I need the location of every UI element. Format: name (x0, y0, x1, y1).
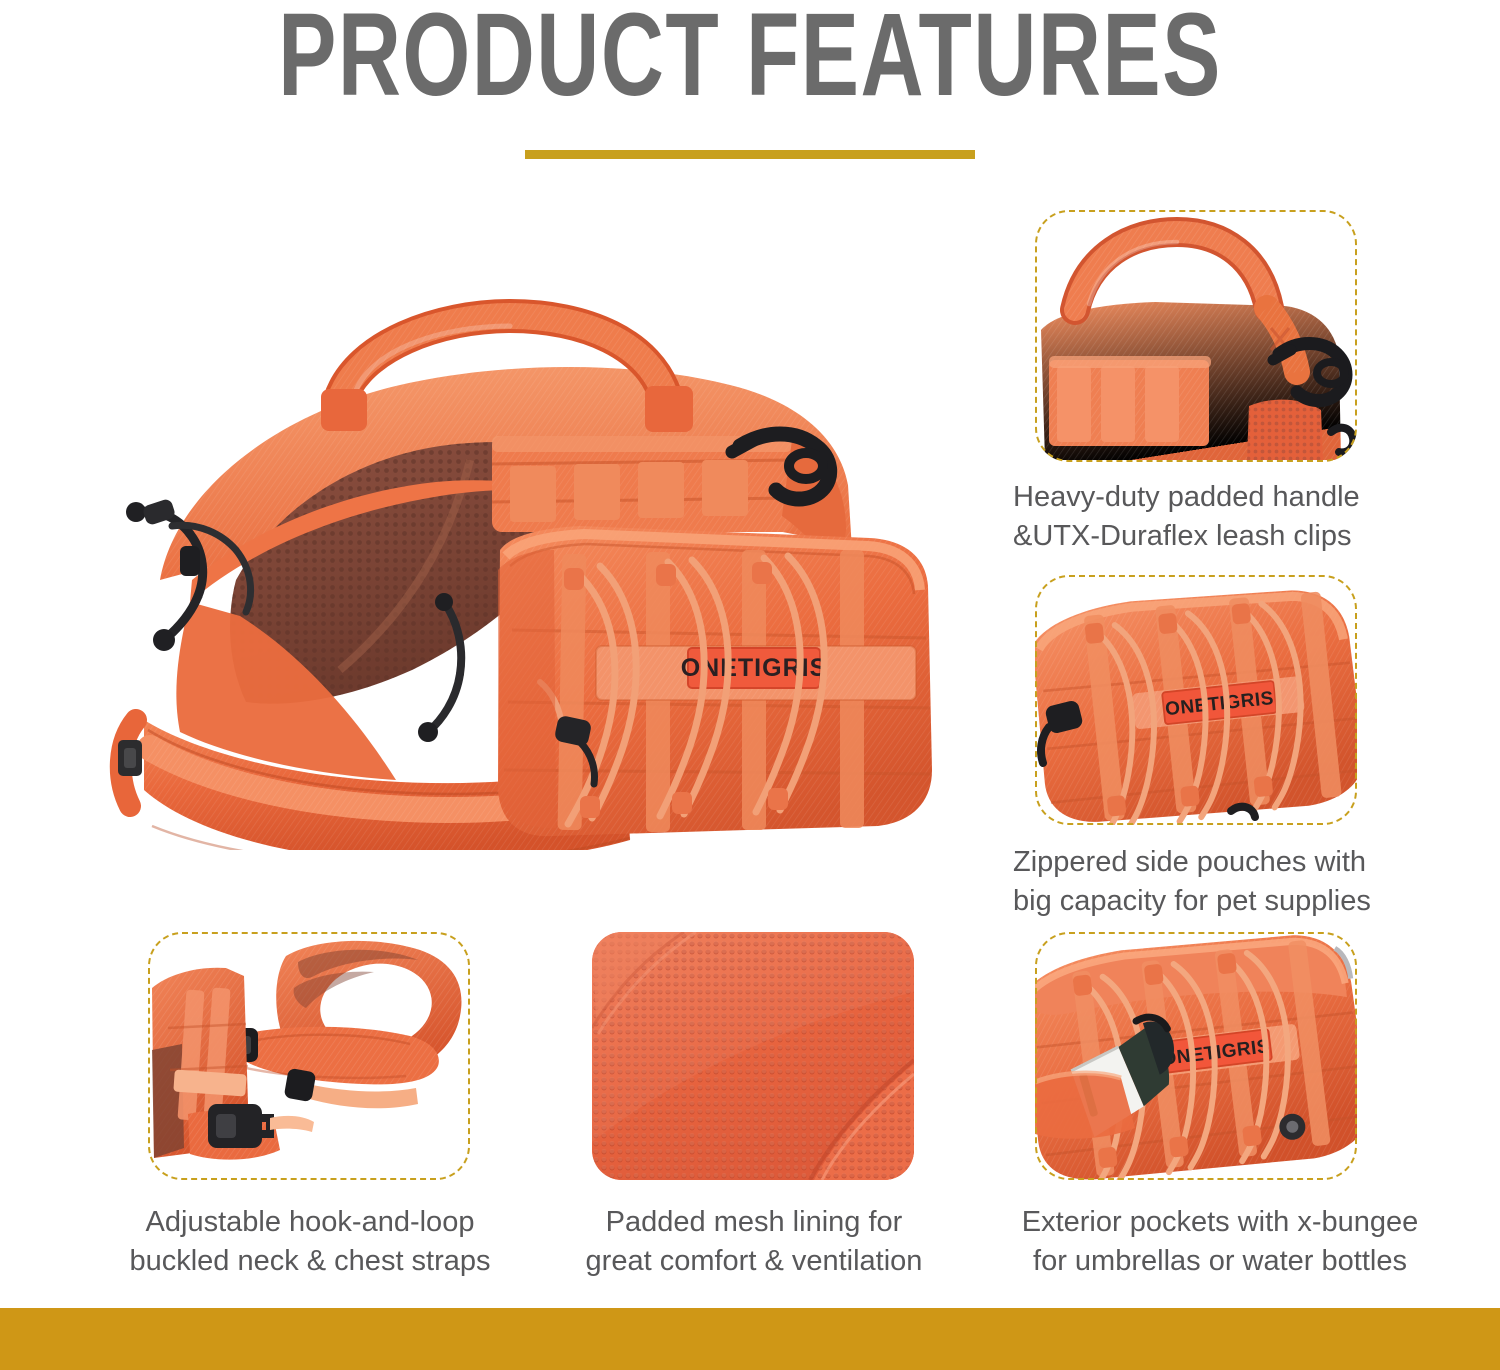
feature-caption-pouch: Zippered side pouches with big capacity … (1013, 843, 1443, 920)
feature-image-mesh (592, 932, 914, 1180)
feature-image-pouch: ONETIGRIS (1035, 575, 1357, 825)
feature-image-bungee: ONETIGRIS (1035, 932, 1357, 1180)
feature-image-handle (1035, 210, 1357, 462)
hook-and-loop-straps-illustration (148, 932, 470, 1180)
dog-saddlebag-harness-illustration: ONETIGRIS (40, 250, 970, 850)
x-bungee-water-bottle-illustration: ONETIGRIS (1035, 932, 1357, 1180)
page-header: PRODUCT FEATURES (0, 0, 1500, 180)
feature-caption-mesh: Padded mesh lining for great comfort & v… (572, 1203, 936, 1280)
mesh-texture-illustration (592, 932, 914, 1180)
padded-handle-photo (1035, 210, 1357, 462)
footer-gold-band (0, 1308, 1500, 1370)
padded-mesh-swatch (592, 932, 914, 1180)
feature-image-straps (148, 932, 470, 1180)
title-underline-rule (525, 150, 975, 159)
zippered-side-pouch-illustration: ONETIGRIS (1035, 575, 1357, 825)
page-title: PRODUCT FEATURES (195, 0, 1305, 118)
zippered-side-pouch-photo: ONETIGRIS (1035, 575, 1357, 825)
feature-caption-straps: Adjustable hook-and-loop buckled neck & … (128, 1203, 492, 1280)
feature-caption-handle: Heavy-duty padded handle &UTX-Duraflex l… (1013, 478, 1433, 555)
exterior-pocket-photo: ONETIGRIS (1035, 932, 1357, 1180)
padded-handle-illustration (1035, 210, 1357, 462)
hero-product-image: ONETIGRIS (40, 250, 970, 850)
feature-caption-bungee: Exterior pockets with x-bungee for umbre… (1000, 1203, 1440, 1280)
adjustable-straps-photo (148, 932, 470, 1180)
